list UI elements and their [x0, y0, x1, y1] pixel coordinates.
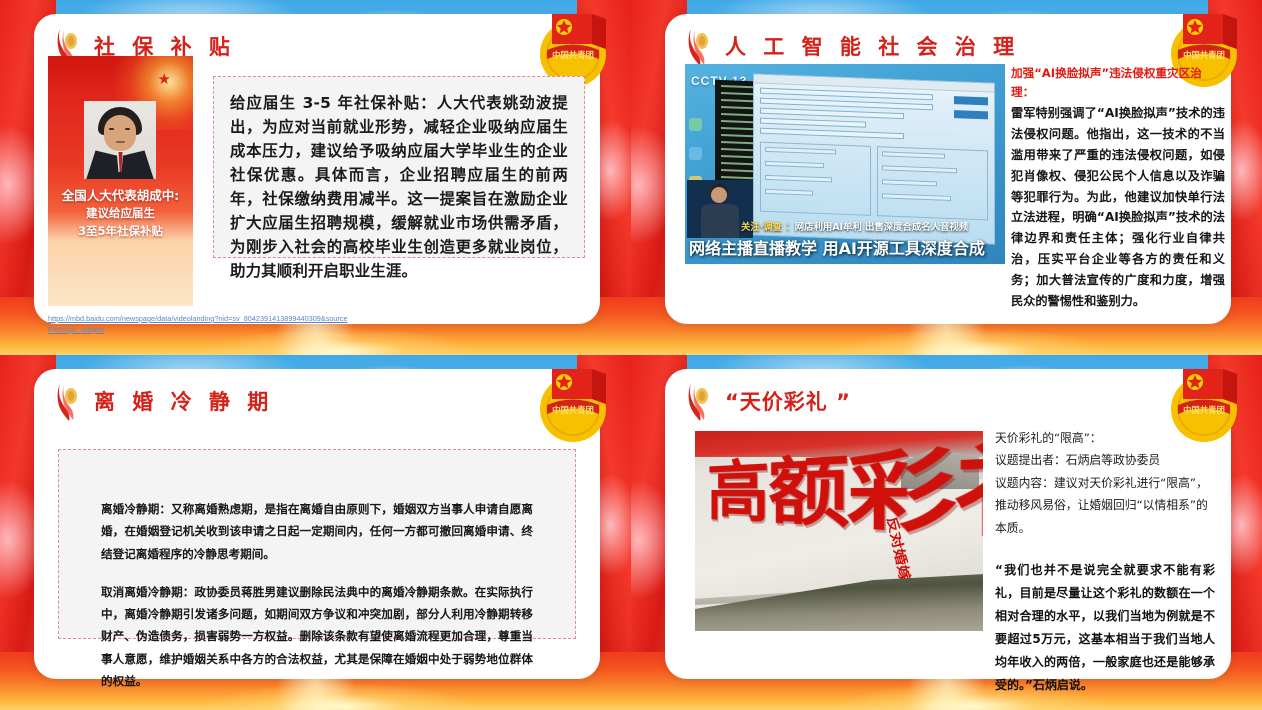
news-poster-image: ★ 全国人大代表胡成中: 建议给应届生 3至5年社保补贴 [48, 56, 193, 306]
page-title: 社 保 补 贴 [94, 37, 235, 58]
content-card: 社 保 补 贴 中国共青团 ★ [34, 14, 600, 324]
village-wall-slogan-photo: 高额彩礼 反对婚嫁攀比 [695, 431, 983, 631]
broadcast-caption-top: 关注·调查 ：网店利用AI牟利 出售深度合成名人音视频 [741, 222, 1005, 234]
source-url-link[interactable]: https://mbd.baidu.com/newspage/data/vide… [48, 314, 348, 335]
emblem-ribbon-text: 中国共青团 [1183, 405, 1225, 415]
body-paragraph-1: 天价彩礼的“限高”： 议题提出者：石炳启等政协委员 议题内容：建议对天价彩礼进行… [995, 427, 1215, 539]
page-title: “天价彩礼 ” [725, 392, 851, 413]
body-text: 雷军特别强调了“AI换脸拟声”技术的违法侵权问题。他指出，这一技术的不当滥用带来… [1011, 103, 1225, 313]
emblem-ribbon-text: 中国共青团 [1183, 50, 1225, 60]
news-broadcast-screenshot: CCTV 13 [685, 64, 1005, 264]
poster-caption-line-1: 全国人大代表胡成中: [48, 186, 193, 205]
page-title: 人 工 智 能 社 会 治 理 [725, 37, 1019, 58]
body-text-box: 给应届生 3-5 年社保补贴：人大代表姚劲波提出，为应对当前就业形势，减轻企业吸… [213, 76, 585, 258]
broadcast-caption-top-text: 网店利用AI牟利 出售深度合成名人音视频 [795, 222, 968, 233]
broadcast-caption-label: 关注·调查 ： [741, 222, 795, 233]
body-text-block: 加强“AI换脸拟声”违法侵权重灾区治理： 雷军特别强调了“AI换脸拟声”技术的违… [1011, 64, 1225, 312]
content-card: 离 婚 冷 静 期 中国共青团 离婚冷静期：又称离婚熟虑期，是指在离婚自由原则下… [34, 369, 600, 679]
red-ribbon-icon [687, 382, 717, 422]
poster-caption-line-2: 建议给应届生 [48, 205, 193, 223]
slide-social-insurance-subsidy: 社 保 补 贴 中国共青团 ★ [0, 0, 631, 355]
body-paragraph-2: 取消离婚冷静期：政协委员蒋胜男建议删除民法典中的离婚冷静期条款。在实际执行中，离… [101, 581, 533, 692]
poster-caption-line-3: 3至5年社保补贴 [48, 223, 193, 241]
ai-software-window-decoration [753, 73, 995, 244]
slide-title-row: 人 工 智 能 社 会 治 理 [687, 27, 1019, 67]
page-title: 离 婚 冷 静 期 [94, 392, 273, 413]
red-ribbon-icon [56, 382, 86, 422]
slide-grid: 社 保 补 贴 中国共青团 ★ [0, 0, 1262, 710]
communist-youth-league-emblem: 中国共青团 [530, 361, 616, 447]
body-text: 给应届生 3-5 年社保补贴：人大代表姚劲波提出，为应对当前就业形势，减轻企业吸… [230, 91, 568, 283]
avatar [84, 101, 156, 179]
body-paragraph-2: “我们也并不是说完全就要求不能有彩礼，目前是尽量让这个彩礼的数额在一个相对合理的… [995, 559, 1215, 697]
emblem-ribbon-text: 中国共青团 [552, 405, 594, 415]
slide-title-row: 离 婚 冷 静 期 [56, 382, 273, 422]
red-ribbon-icon [687, 27, 717, 67]
slide-title-row: “天价彩礼 ” [687, 382, 851, 422]
content-card: 人 工 智 能 社 会 治 理 中国共青团 CCTV 13 [665, 14, 1231, 324]
slide-divorce-cooling-off-period: 离 婚 冷 静 期 中国共青团 离婚冷静期：又称离婚熟虑期，是指在离婚自由原则下… [0, 355, 631, 710]
lead-heading: 加强“AI换脸拟声”违法侵权重灾区治理： [1011, 64, 1225, 102]
emblem-ribbon-text: 中国共青团 [552, 50, 594, 60]
body-text-block: 天价彩礼的“限高”： 议题提出者：石炳启等政协委员 议题内容：建议对天价彩礼进行… [995, 427, 1215, 697]
slide-sky-high-bride-price: “天价彩礼 ” 中国共青团 高额彩礼 反对婚嫁攀比 [631, 355, 1262, 710]
body-paragraph-1: 离婚冷静期：又称离婚熟虑期，是指在离婚自由原则下，婚姻双方当事人申请自愿离婚，在… [101, 498, 533, 565]
content-card: “天价彩礼 ” 中国共青团 高额彩礼 反对婚嫁攀比 [665, 369, 1231, 679]
body-text-box: 离婚冷静期：又称离婚熟虑期，是指在离婚自由原则下，婚姻双方当事人申请自愿离婚，在… [58, 449, 576, 639]
star-icon: ★ [158, 72, 171, 87]
slide-ai-social-governance: 人 工 智 能 社 会 治 理 中国共青团 CCTV 13 [631, 0, 1262, 355]
broadcast-caption-bottom: 网络主播直播教学 用AI开源工具深度合成 [689, 238, 1005, 260]
poster-caption: 全国人大代表胡成中: 建议给应届生 3至5年社保补贴 [48, 186, 193, 241]
